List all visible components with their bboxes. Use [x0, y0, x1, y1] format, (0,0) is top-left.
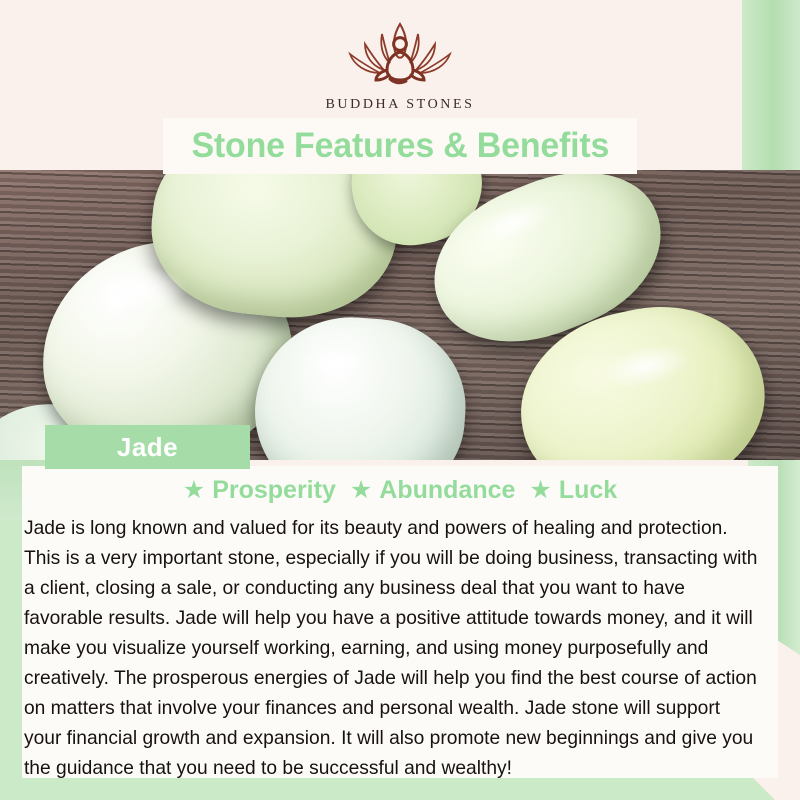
lotus-meditating-figure-icon — [334, 18, 466, 92]
star-icon: ★ — [183, 478, 205, 503]
stone-name-banner: Jade — [45, 425, 250, 469]
jade-stones-photo — [0, 170, 800, 460]
benefit-label: Prosperity — [212, 476, 336, 505]
page-title: Stone Features & Benefits — [191, 126, 609, 166]
benefit-item: ★ Luck — [529, 476, 617, 505]
star-icon: ★ — [529, 478, 551, 503]
benefits-row: ★ Prosperity ★ Abundance ★ Luck — [22, 466, 778, 505]
decor-band-left-long — [0, 520, 22, 785]
benefit-label: Abundance — [379, 476, 515, 505]
benefit-label: Luck — [559, 476, 617, 505]
star-icon: ★ — [350, 478, 372, 503]
stone-description: Jade is long known and valued for its be… — [22, 513, 767, 783]
benefit-item: ★ Prosperity — [183, 476, 336, 505]
brand-wordmark: BUDDHA STONES — [0, 97, 800, 113]
stone-name-label: Jade — [117, 432, 178, 463]
stone-info-card: BUDDHA STONES Stone Features & Benefits … — [0, 0, 800, 800]
content-panel: ★ Prosperity ★ Abundance ★ Luck Jade is … — [22, 466, 778, 778]
benefit-item: ★ Abundance — [350, 476, 516, 505]
brand-logo: BUDDHA STONES — [0, 18, 800, 113]
page-title-banner: Stone Features & Benefits — [163, 118, 637, 174]
